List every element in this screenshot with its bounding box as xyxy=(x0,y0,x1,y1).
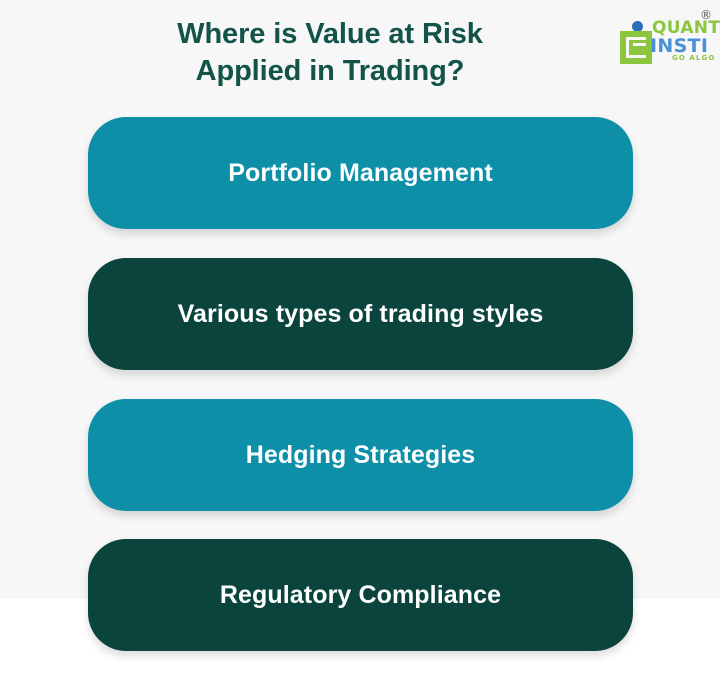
logo-q-inner-shape xyxy=(626,37,646,58)
logo-q-glyph xyxy=(620,31,652,64)
list-item-label: Hedging Strategies xyxy=(246,441,476,470)
list-item-label: Various types of trading styles xyxy=(178,300,544,329)
list-item-label: Portfolio Management xyxy=(228,159,493,188)
list-item[interactable]: Hedging Strategies xyxy=(88,399,633,511)
brand-logo: QUANT INSTI ® GO ALGO xyxy=(616,4,720,68)
page-title-line-2: Applied in Trading? xyxy=(60,53,600,90)
list-item-label: Regulatory Compliance xyxy=(220,581,501,610)
logo-tagline: GO ALGO xyxy=(672,54,715,62)
registered-trademark-icon: ® xyxy=(700,8,712,22)
list-item[interactable]: Portfolio Management xyxy=(88,117,633,229)
list-item[interactable]: Regulatory Compliance xyxy=(88,539,633,651)
logo-q-icon xyxy=(620,18,652,54)
page-title-line-1: Where is Value at Risk xyxy=(60,16,600,53)
page-title: Where is Value at Risk Applied in Tradin… xyxy=(60,16,600,89)
infographic-canvas: Where is Value at Risk Applied in Tradin… xyxy=(0,0,720,673)
logo-q-tail-shape xyxy=(633,43,646,46)
list-item[interactable]: Various types of trading styles xyxy=(88,258,633,370)
